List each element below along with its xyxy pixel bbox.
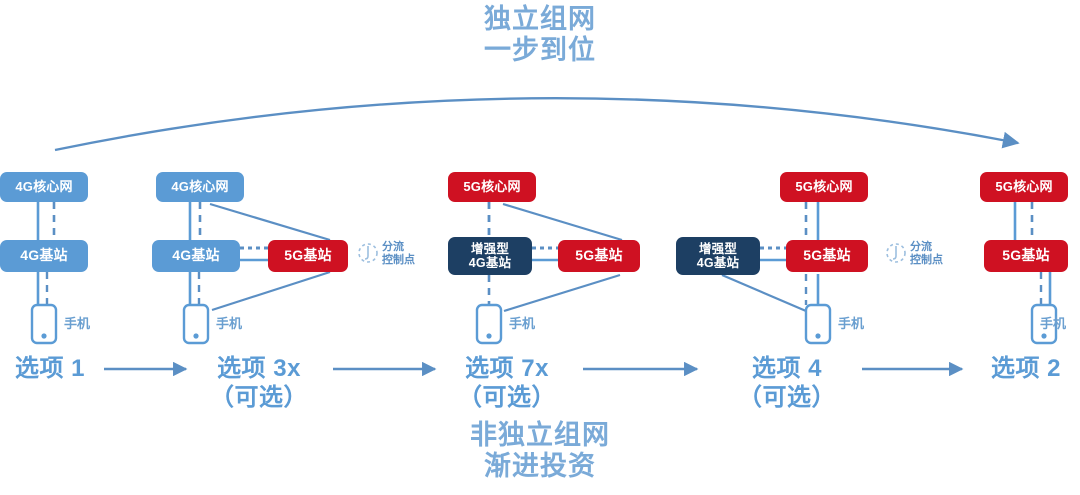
- option-label-option-3x: 选项 3x （可选）: [186, 355, 332, 413]
- phone-icon-option-4: [806, 305, 830, 343]
- sa-arc-arrow: [55, 98, 1018, 150]
- node-5g-core-option-4[interactable]: 5G核心网: [780, 172, 868, 202]
- annotation-split-control-option-4: 分流 控制点: [910, 241, 943, 268]
- node-5g-ran-option-3x[interactable]: 5G基站: [268, 240, 348, 272]
- annotation-text: 分流 控制点: [382, 241, 415, 268]
- node-label: 5G基站: [575, 248, 622, 264]
- phone-icon-option-1: [32, 305, 56, 343]
- node-4g-ran-option-3x[interactable]: 4G基站: [152, 240, 240, 272]
- phone-icon-option-3x: [184, 305, 208, 343]
- phone-icon-option-7x: [477, 305, 501, 343]
- node-label: 5G核心网: [463, 180, 520, 195]
- node-label: 增强型 4G基站: [469, 242, 511, 270]
- node-4g-core-option-1[interactable]: 4G核心网: [0, 172, 88, 202]
- node-4g-ran-option-1[interactable]: 4G基站: [0, 240, 88, 272]
- option-label-option-1: 选项 1: [0, 355, 100, 384]
- phone-label-option-4: 手机: [838, 313, 864, 332]
- page-title-top: 独立组网 一步到位: [0, 4, 1080, 67]
- node-label: 5G核心网: [995, 180, 1052, 195]
- split-control-icon-3x: [359, 244, 377, 262]
- node-enhanced-4g-ran-option-4[interactable]: 增强型 4G基站: [676, 237, 760, 275]
- phone-label-option-3x: 手机: [216, 313, 242, 332]
- option-label-option-2: 选项 2: [972, 355, 1080, 384]
- phone-label-option-2: 手机: [1040, 313, 1066, 332]
- node-label: 5G基站: [1002, 248, 1049, 264]
- node-5g-core-option-7x[interactable]: 5G核心网: [448, 172, 536, 202]
- node-enhanced-4g-ran-option-7x[interactable]: 增强型 4G基站: [448, 237, 532, 275]
- node-5g-ran-option-4[interactable]: 5G基站: [786, 240, 868, 272]
- option-label-option-4: 选项 4 （可选）: [714, 355, 860, 413]
- node-5g-ran-option-7x[interactable]: 5G基站: [558, 240, 640, 272]
- node-label: 4G核心网: [171, 180, 228, 195]
- annotation-text: 分流 控制点: [910, 241, 943, 268]
- node-label: 增强型 4G基站: [697, 242, 739, 270]
- phone-label-option-1: 手机: [64, 313, 90, 332]
- node-label: 4G基站: [20, 248, 67, 264]
- node-label: 5G基站: [803, 248, 850, 264]
- diagram-canvas: 独立组网 一步到位 非独立组网 渐进投资 4G核心网 4G基站 手机 选项 1 …: [0, 0, 1080, 495]
- node-label: 4G核心网: [15, 180, 72, 195]
- node-4g-core-option-3x[interactable]: 4G核心网: [156, 172, 244, 202]
- node-label: 5G核心网: [795, 180, 852, 195]
- node-5g-ran-option-2[interactable]: 5G基站: [984, 240, 1068, 272]
- node-label: 4G基站: [172, 248, 219, 264]
- annotation-split-control-option-3x: 分流 控制点: [382, 241, 415, 268]
- phone-label-option-7x: 手机: [509, 313, 535, 332]
- phone-icons: [32, 305, 1056, 343]
- split-control-icon-4: [887, 244, 905, 262]
- option-label-option-7x: 选项 7x （可选）: [434, 355, 580, 413]
- node-5g-core-option-2[interactable]: 5G核心网: [980, 172, 1068, 202]
- node-label: 5G基站: [284, 248, 331, 264]
- page-title-bottom: 非独立组网 渐进投资: [0, 420, 1080, 483]
